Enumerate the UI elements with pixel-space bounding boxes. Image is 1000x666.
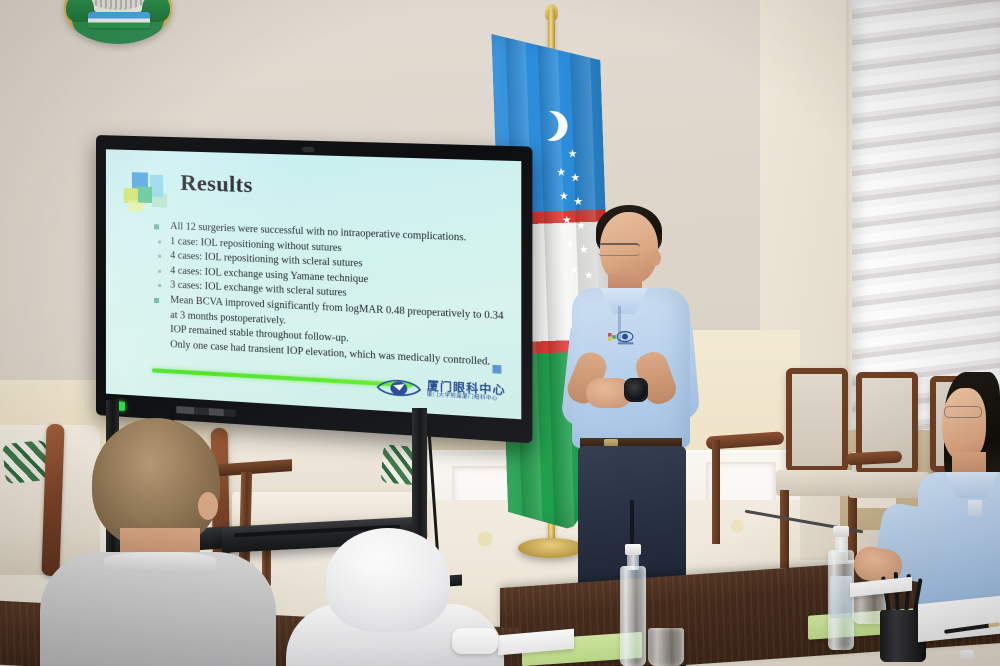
slide-accent-line [152, 368, 413, 387]
slide-screen: Results All 12 surgeries were successful… [106, 149, 521, 419]
star-icon: ★ [567, 149, 577, 160]
star-icon: ★ [579, 245, 589, 256]
slide-footer-logo: 厦门眼科中心 厦门大学附属厦门眼科中心 [376, 375, 505, 406]
slide-page-marker [493, 365, 502, 374]
flag-fold [537, 32, 574, 530]
wall-cream-panel-right [690, 330, 800, 470]
star-icon: ★ [569, 265, 579, 276]
slide-title: Results [180, 170, 252, 199]
audience-center-head [326, 528, 450, 632]
crumpled-tissue[interactable] [452, 628, 498, 654]
eraser[interactable] [960, 650, 974, 660]
star-icon: ★ [573, 197, 583, 208]
striped-cushion [2, 440, 50, 484]
slide-decoration-squares [124, 172, 172, 216]
flag-stand-base [518, 538, 584, 558]
star-icon: ★ [584, 271, 594, 282]
glasses-icon [944, 406, 982, 418]
star-icon: ★ [559, 191, 569, 202]
dining-chair-back[interactable] [786, 368, 848, 472]
conference-room-photo: ★ ★ ★ ★ ★ ★ ★ ★ ★ ★ ★ Results Al [0, 0, 1000, 666]
star-icon: ★ [562, 215, 572, 226]
presentation-display[interactable]: Results All 12 surgeries were successful… [96, 135, 532, 443]
dining-chair-leg [780, 490, 789, 568]
emblem-flag-ribbon [88, 12, 151, 28]
drinking-glass[interactable] [648, 628, 684, 666]
shirt-badge-icon [968, 500, 982, 516]
glasses-icon [598, 243, 640, 256]
audience-left-ear [198, 492, 218, 520]
logo-text-block: 厦门眼科中心 厦门大学附属厦门眼科中心 [427, 381, 506, 403]
star-icon: ★ [556, 168, 566, 179]
shirt-eye-logo-icon [608, 330, 642, 346]
water-bottle[interactable] [620, 566, 646, 666]
bottle-label [830, 576, 852, 618]
audience-right-face [942, 388, 986, 462]
bottle-cap[interactable] [833, 526, 849, 537]
slide-bullet-list: All 12 surgeries were successful with no… [152, 219, 506, 371]
wristwatch-icon [626, 380, 646, 400]
star-icon: ★ [570, 173, 580, 184]
presenter-ear [650, 250, 661, 266]
star-icon: ★ [565, 239, 575, 250]
bottle-cap[interactable] [625, 544, 641, 555]
eye-icon [376, 375, 421, 401]
audience-left-collar [104, 552, 216, 572]
webcam-icon [302, 147, 315, 152]
dining-chair-leg [712, 440, 720, 544]
star-icon: ★ [576, 221, 586, 232]
